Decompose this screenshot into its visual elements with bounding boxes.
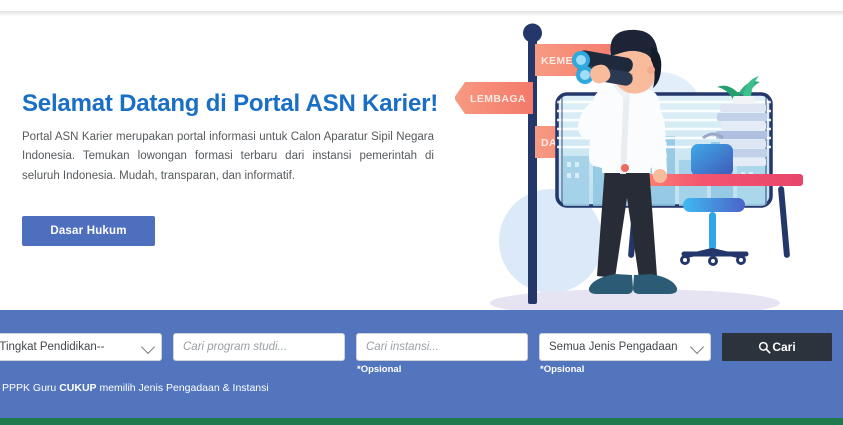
jenis-optional-hint: *Opsional [540, 364, 584, 375]
hero-illustration: KEMENTERIAN LEMBAGA DAERAH [455, 16, 843, 310]
footer-green-bar [0, 418, 843, 425]
header-shadow [0, 11, 843, 16]
field-tingkat-pendidikan: --Pilih Tingkat Pendidikan-- [0, 333, 162, 361]
education-level-select[interactable]: --Pilih Tingkat Pendidikan-- [0, 333, 162, 361]
jenis-select-wrap: Semua Jenis Pengadaan [539, 333, 711, 361]
page-header-strip [0, 0, 843, 11]
hero-section: Selamat Datang di Portal ASN Karier! Por… [0, 16, 843, 310]
search-icon [758, 341, 771, 354]
hero-text-block: Selamat Datang di Portal ASN Karier! Por… [22, 90, 442, 187]
field-program-studi [173, 333, 345, 361]
field-jenis-pengadaan: Semua Jenis Pengadaan *Opsional [539, 333, 711, 361]
search-form: --Pilih Tingkat Pendidikan-- *Opsional S… [0, 333, 832, 361]
search-note-suffix: memilih Jenis Pengadaan & Instansi [97, 382, 269, 394]
hero-description: Portal ASN Karier merupakan portal infor… [22, 128, 434, 187]
sign-lembaga-label: LEMBAGA [470, 93, 526, 105]
page-title: Selamat Datang di Portal ASN Karier! [22, 90, 442, 118]
search-note-prefix: (*) PPPK Guru [0, 382, 59, 394]
dasar-hukum-button[interactable]: Dasar Hukum [22, 216, 155, 246]
field-instansi: *Opsional [356, 333, 528, 361]
page-root: Selamat Datang di Portal ASN Karier! Por… [0, 0, 843, 425]
search-submit-button[interactable]: Cari [722, 333, 832, 361]
signpost-cap [523, 24, 542, 43]
search-submit-label: Cari [772, 340, 795, 354]
search-note: (*) PPPK Guru CUKUP memilih Jenis Pengad… [0, 382, 269, 394]
instansi-optional-hint: *Opsional [357, 364, 401, 375]
instansi-input[interactable] [356, 333, 528, 361]
program-studi-input[interactable] [173, 333, 345, 361]
jenis-pengadaan-select[interactable]: Semua Jenis Pengadaan [539, 333, 711, 361]
search-band: --Pilih Tingkat Pendidikan-- *Opsional S… [0, 310, 843, 418]
education-select-wrap: --Pilih Tingkat Pendidikan-- [0, 333, 162, 361]
search-note-strong: CUKUP [59, 382, 96, 394]
